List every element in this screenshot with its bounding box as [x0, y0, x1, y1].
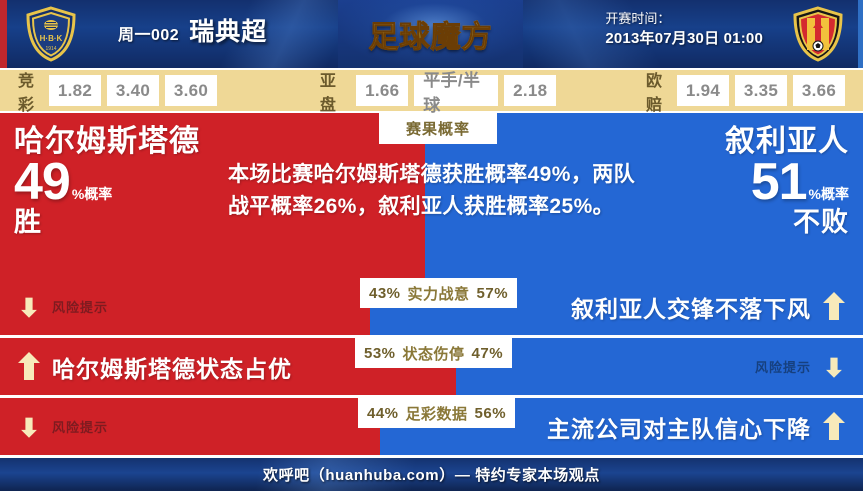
kickoff-block: 开赛时间： 2013年07月30日 01:00 — [605, 9, 763, 50]
home-probability-unit: %概率 — [72, 187, 112, 207]
result-probability-panel: 哈尔姆斯塔德 49 %概率 胜 叙利亚人 51 %概率 不败 赛果概率 本场比赛… — [0, 113, 863, 278]
comparison-row: 风险提示 主流公司对主队信心下降 44% 足彩数据 56% — [0, 398, 863, 458]
away-probability-verdict: 不败 — [725, 209, 849, 236]
away-probability-stat: 叙利亚人 51 %概率 不败 — [725, 127, 849, 236]
header-right-accent-stripe — [858, 0, 863, 68]
comparison-row: 风险提示 叙利亚人交锋不落下风 43% 实力战意 57% — [0, 278, 863, 338]
odds-group-jingcai: 竞彩 1.82 3.40 3.60 — [18, 67, 217, 115]
arrow-up-icon — [823, 412, 845, 442]
footer-credit-text: 欢呼吧（huanhuba.com）— 特约专家本场观点 — [263, 464, 600, 485]
comparison-right-percent: 56% — [475, 405, 507, 422]
comparison-right-content: 叙利亚人交锋不落下风 — [571, 290, 863, 324]
comparison-metric-name: 实力战意 — [408, 283, 470, 304]
comparison-right-percent: 57% — [477, 285, 509, 302]
home-probability-value: 49 — [14, 159, 70, 207]
match-number: 周一002 — [118, 21, 179, 48]
odds-cell[interactable]: 3.66 — [793, 75, 845, 106]
comparison-metric-name: 足彩数据 — [406, 403, 468, 424]
comparison-right-content: 风险提示 — [755, 352, 863, 382]
comparison-rows: 风险提示 叙利亚人交锋不落下风 43% 实力战意 57% 哈尔姆斯塔德状态占优 — [0, 278, 863, 458]
arrow-up-icon — [823, 292, 845, 322]
brand-logo: 足球魔方 — [338, 0, 523, 68]
comparison-badge: 43% 实力战意 57% — [360, 278, 517, 308]
arrow-down-icon — [21, 296, 37, 318]
comparison-row-right: 风险提示 — [456, 338, 863, 395]
footer-bar: 欢呼吧（huanhuba.com）— 特约专家本场观点 — [0, 458, 863, 491]
comparison-row-left: 风险提示 — [0, 278, 370, 335]
header-bar: H·B·K 1914 周一002 瑞典超 足球魔方 开赛时间： 2013年07月… — [0, 0, 863, 68]
result-probability-tag: 赛果概率 — [379, 113, 497, 144]
odds-group-label: 欧赔 — [646, 67, 667, 115]
comparison-right-content: 主流公司对主队信心下降 — [547, 410, 863, 444]
league-name: 瑞典超 — [189, 12, 267, 48]
odds-group-asian-handicap: 亚盘 1.66 平手/半球 2.18 — [320, 67, 556, 115]
comparison-metric-name: 状态伤停 — [403, 343, 465, 364]
odds-group-label: 竞彩 — [18, 67, 39, 115]
away-team-crest-icon — [789, 5, 847, 63]
risk-warning-label: 风险提示 — [755, 357, 811, 376]
odds-cell[interactable]: 3.60 — [165, 75, 217, 106]
result-probability-description: 本场比赛哈尔姆斯塔德获胜概率49%，两队战平概率26%，叙利亚人获胜概率25%。 — [228, 159, 638, 223]
odds-cell[interactable]: 3.35 — [735, 75, 787, 106]
brand-logo-text: 足球魔方 — [369, 12, 493, 56]
match-preview-infographic: H·B·K 1914 周一002 瑞典超 足球魔方 开赛时间： 2013年07月… — [0, 0, 863, 499]
odds-cell[interactable]: 1.66 — [356, 75, 408, 106]
comparison-badge: 53% 状态伤停 47% — [355, 338, 512, 368]
odds-cell[interactable]: 3.40 — [107, 75, 159, 106]
odds-bar: 竞彩 1.82 3.40 3.60 亚盘 1.66 平手/半球 2.18 欧赔 … — [0, 68, 863, 113]
comparison-right-percent: 47% — [472, 345, 504, 362]
arrow-up-icon — [18, 352, 40, 382]
comparison-left-content: 哈尔姆斯塔德状态占优 — [0, 350, 292, 384]
odds-cell-handicap[interactable]: 平手/半球 — [414, 75, 498, 106]
comparison-verdict-label: 主流公司对主队信心下降 — [547, 410, 811, 444]
comparison-verdict-label: 叙利亚人交锋不落下风 — [571, 290, 811, 324]
arrow-down-icon — [826, 356, 842, 378]
svg-text:1914: 1914 — [45, 46, 56, 52]
comparison-left-content: 风险提示 — [0, 412, 108, 442]
comparison-row: 哈尔姆斯塔德状态占优 风险提示 53% 状态伤停 47% — [0, 338, 863, 398]
home-probability-stat: 哈尔姆斯塔德 49 %概率 胜 — [14, 127, 200, 236]
comparison-left-content: 风险提示 — [0, 292, 108, 322]
home-probability-verdict: 胜 — [14, 209, 200, 236]
away-probability-value: 51 — [751, 159, 807, 207]
kickoff-label: 开赛时间： — [605, 9, 763, 28]
risk-warning-label: 风险提示 — [52, 417, 108, 436]
comparison-left-percent: 44% — [367, 405, 399, 422]
comparison-row-left: 风险提示 — [0, 398, 380, 455]
risk-warning-label: 风险提示 — [52, 297, 108, 316]
kickoff-time: 2013年07月30日 01:00 — [605, 28, 763, 50]
odds-cell[interactable]: 1.94 — [677, 75, 729, 106]
comparison-left-percent: 53% — [364, 345, 396, 362]
odds-cell[interactable]: 1.82 — [49, 75, 101, 106]
odds-cell[interactable]: 2.18 — [504, 75, 556, 106]
home-team-crest-icon: H·B·K 1914 — [22, 5, 80, 63]
away-probability-unit: %概率 — [809, 187, 849, 207]
header-left-accent-stripe — [0, 0, 7, 68]
odds-group-european: 欧赔 1.94 3.35 3.66 — [646, 67, 845, 115]
arrow-down-icon — [21, 416, 37, 438]
comparison-left-percent: 43% — [369, 285, 401, 302]
comparison-badge: 44% 足彩数据 56% — [358, 398, 515, 428]
match-identifier: 周一002 瑞典超 — [118, 12, 267, 48]
svg-text:H·B·K: H·B·K — [40, 34, 63, 43]
odds-group-label: 亚盘 — [320, 67, 346, 115]
comparison-verdict-label: 哈尔姆斯塔德状态占优 — [52, 350, 292, 384]
